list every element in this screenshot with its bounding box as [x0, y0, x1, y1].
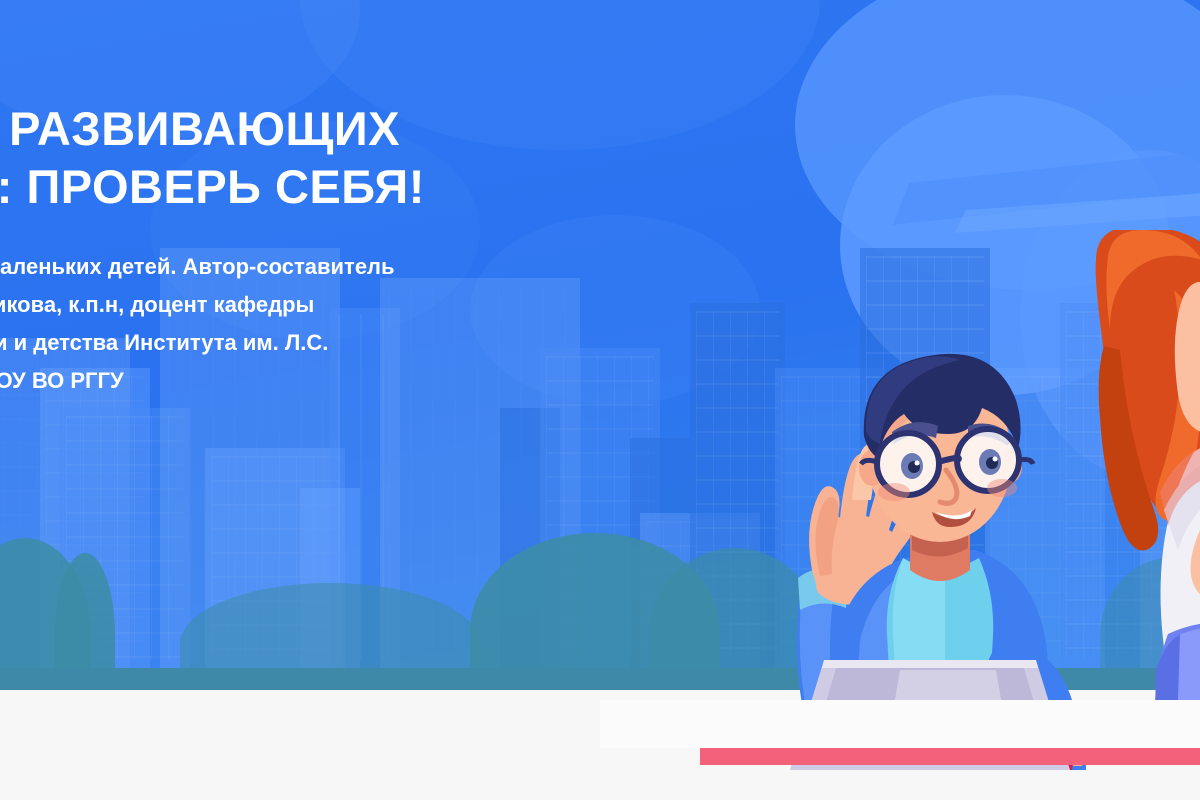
promo-banner: ЕТЫ РАЗВИВАЮЩИХ ШЕК: ПРОВЕРЬ СЕБЯ! дител…	[0, 0, 1200, 800]
headline-line-2: ШЕК: ПРОВЕРЬ СЕБЯ!	[0, 158, 660, 216]
banner-subtext: дителей маленьких детей. Автор-составите…	[0, 248, 660, 400]
desk-coral-edge	[700, 748, 1200, 765]
subtext-line-3: семьи и детства Института им. Л.С.	[0, 324, 660, 362]
page-title: ЕТЫ РАЗВИВАЮЩИХ ШЕК: ПРОВЕРЬ СЕБЯ!	[0, 100, 660, 216]
subtext-line-2: Кожевникова, к.п.н, доцент кафедры	[0, 286, 660, 324]
banner-text-block: ЕТЫ РАЗВИВАЮЩИХ ШЕК: ПРОВЕРЬ СЕБЯ! дител…	[0, 100, 660, 400]
subtext-line-4: ФГАОУ ВО РГГУ	[0, 362, 660, 400]
subtext-line-1: дителей маленьких детей. Автор-составите…	[0, 248, 660, 286]
headline-line-1: ЕТЫ РАЗВИВАЮЩИХ	[0, 102, 400, 155]
desk-surface	[600, 700, 1200, 748]
